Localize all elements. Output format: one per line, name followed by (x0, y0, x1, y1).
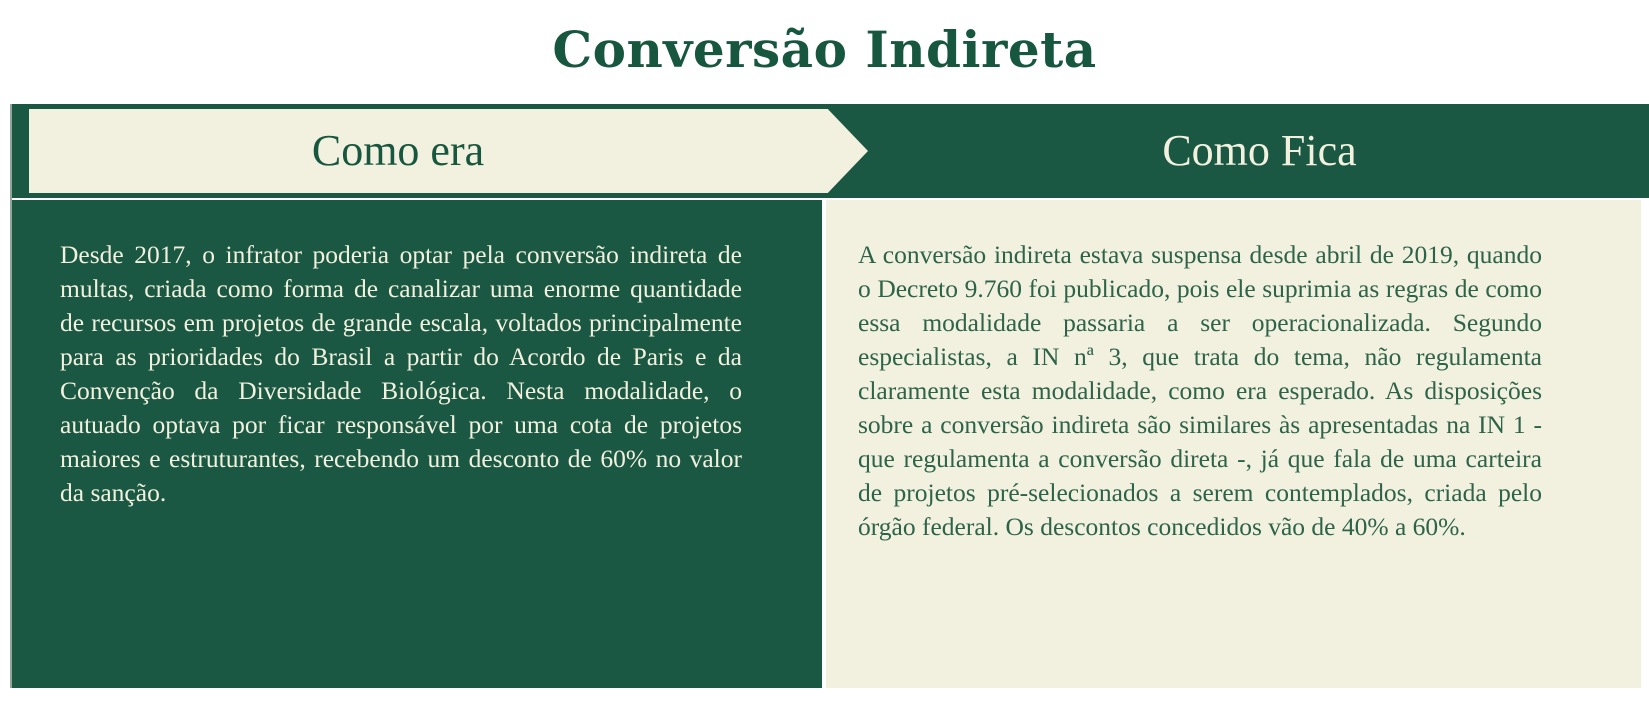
header-band: Como Fica Como era (0, 104, 1649, 198)
page-title: Conversão Indireta (0, 10, 1649, 90)
column-header-como-era: Como era (12, 104, 784, 198)
column-header-como-fica: Como Fica (870, 104, 1649, 198)
panel-como-fica-text: A conversão indireta estava suspensa des… (858, 238, 1542, 544)
panel-como-fica: A conversão indireta estava suspensa des… (826, 200, 1641, 688)
header-right-banner: Como Fica (784, 104, 1649, 198)
panel-como-era: Desde 2017, o infrator poderia optar pel… (12, 200, 822, 688)
infographic-comparison: Conversão Indireta Como Fica Como era De… (0, 0, 1649, 716)
panel-como-era-text: Desde 2017, o infrator poderia optar pel… (60, 238, 742, 510)
